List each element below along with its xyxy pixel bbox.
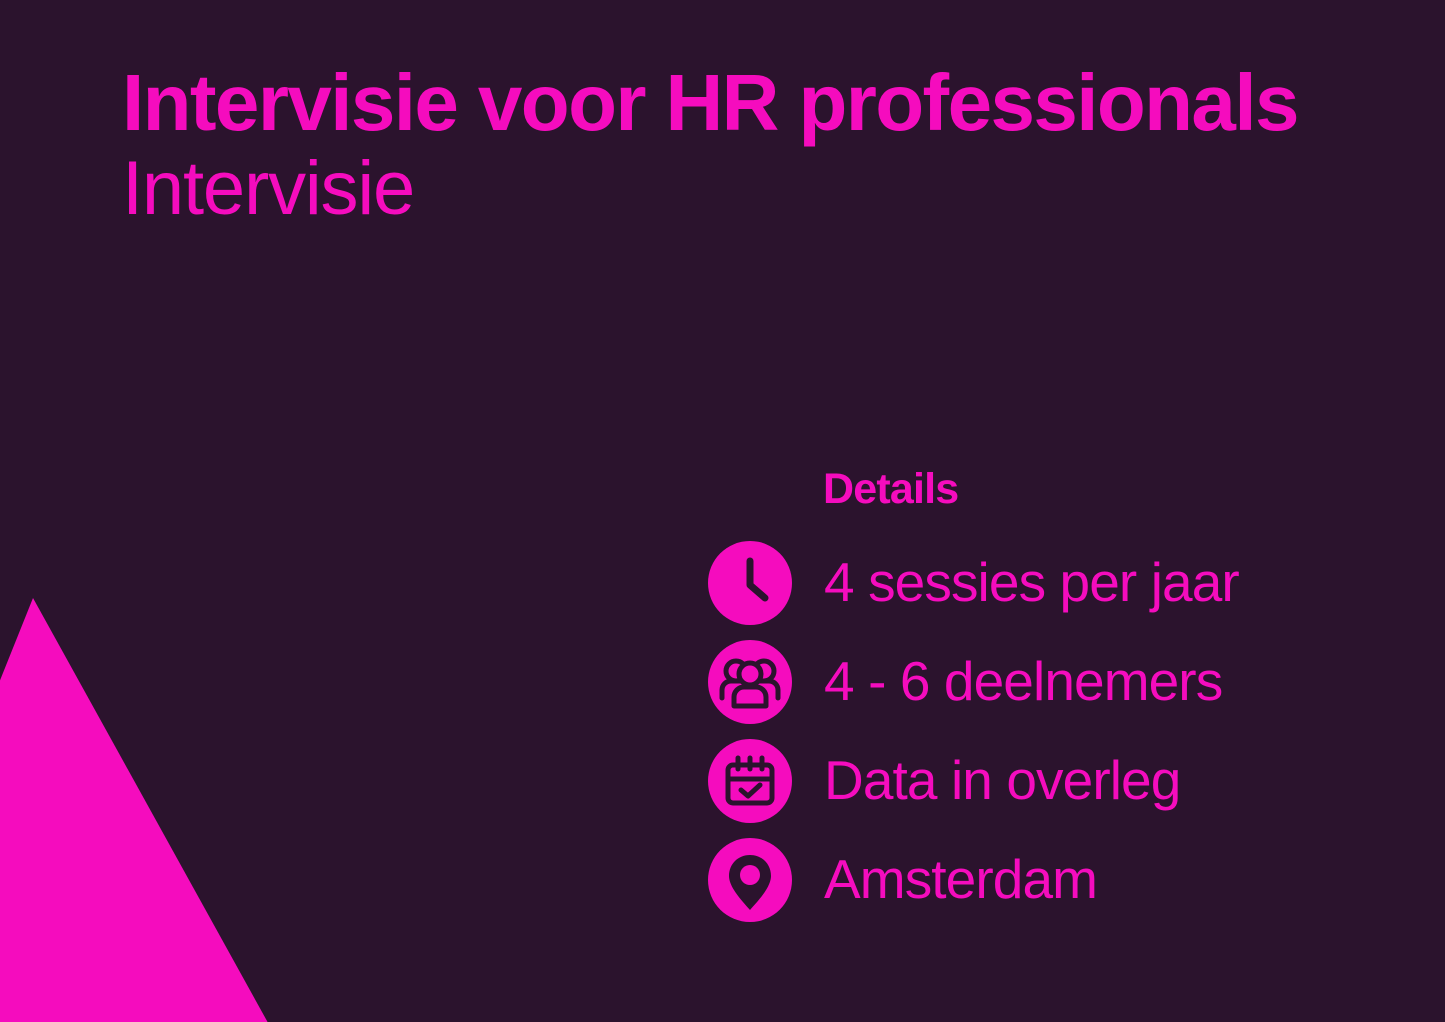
decorative-triangle	[0, 560, 300, 1022]
location-icon	[708, 838, 792, 922]
details-list: 4 sessies per jaar	[823, 533, 1383, 929]
headline-block: Intervisie voor HR professionals Intervi…	[122, 62, 1322, 227]
detail-label: 4 sessies per jaar	[824, 555, 1239, 610]
clock-icon	[708, 541, 792, 625]
detail-row-sessions: 4 sessies per jaar	[708, 533, 1383, 632]
detail-label: Data in overleg	[824, 753, 1180, 808]
people-icon	[708, 640, 792, 724]
calendar-icon	[708, 739, 792, 823]
detail-row-dates: Data in overleg	[708, 731, 1383, 830]
detail-label: 4 - 6 deelnemers	[824, 654, 1222, 709]
detail-row-participants: 4 - 6 deelnemers	[708, 632, 1383, 731]
event-card: Intervisie voor HR professionals Intervi…	[0, 0, 1445, 1022]
detail-label: Amsterdam	[824, 852, 1097, 907]
details-heading: Details	[823, 468, 1383, 511]
page-title: Intervisie voor HR professionals	[122, 62, 1322, 144]
details-block: Details 4 sessies per jaar	[823, 468, 1383, 929]
detail-row-location: Amsterdam	[708, 830, 1383, 929]
page-subtitle: Intervisie	[122, 150, 1322, 228]
